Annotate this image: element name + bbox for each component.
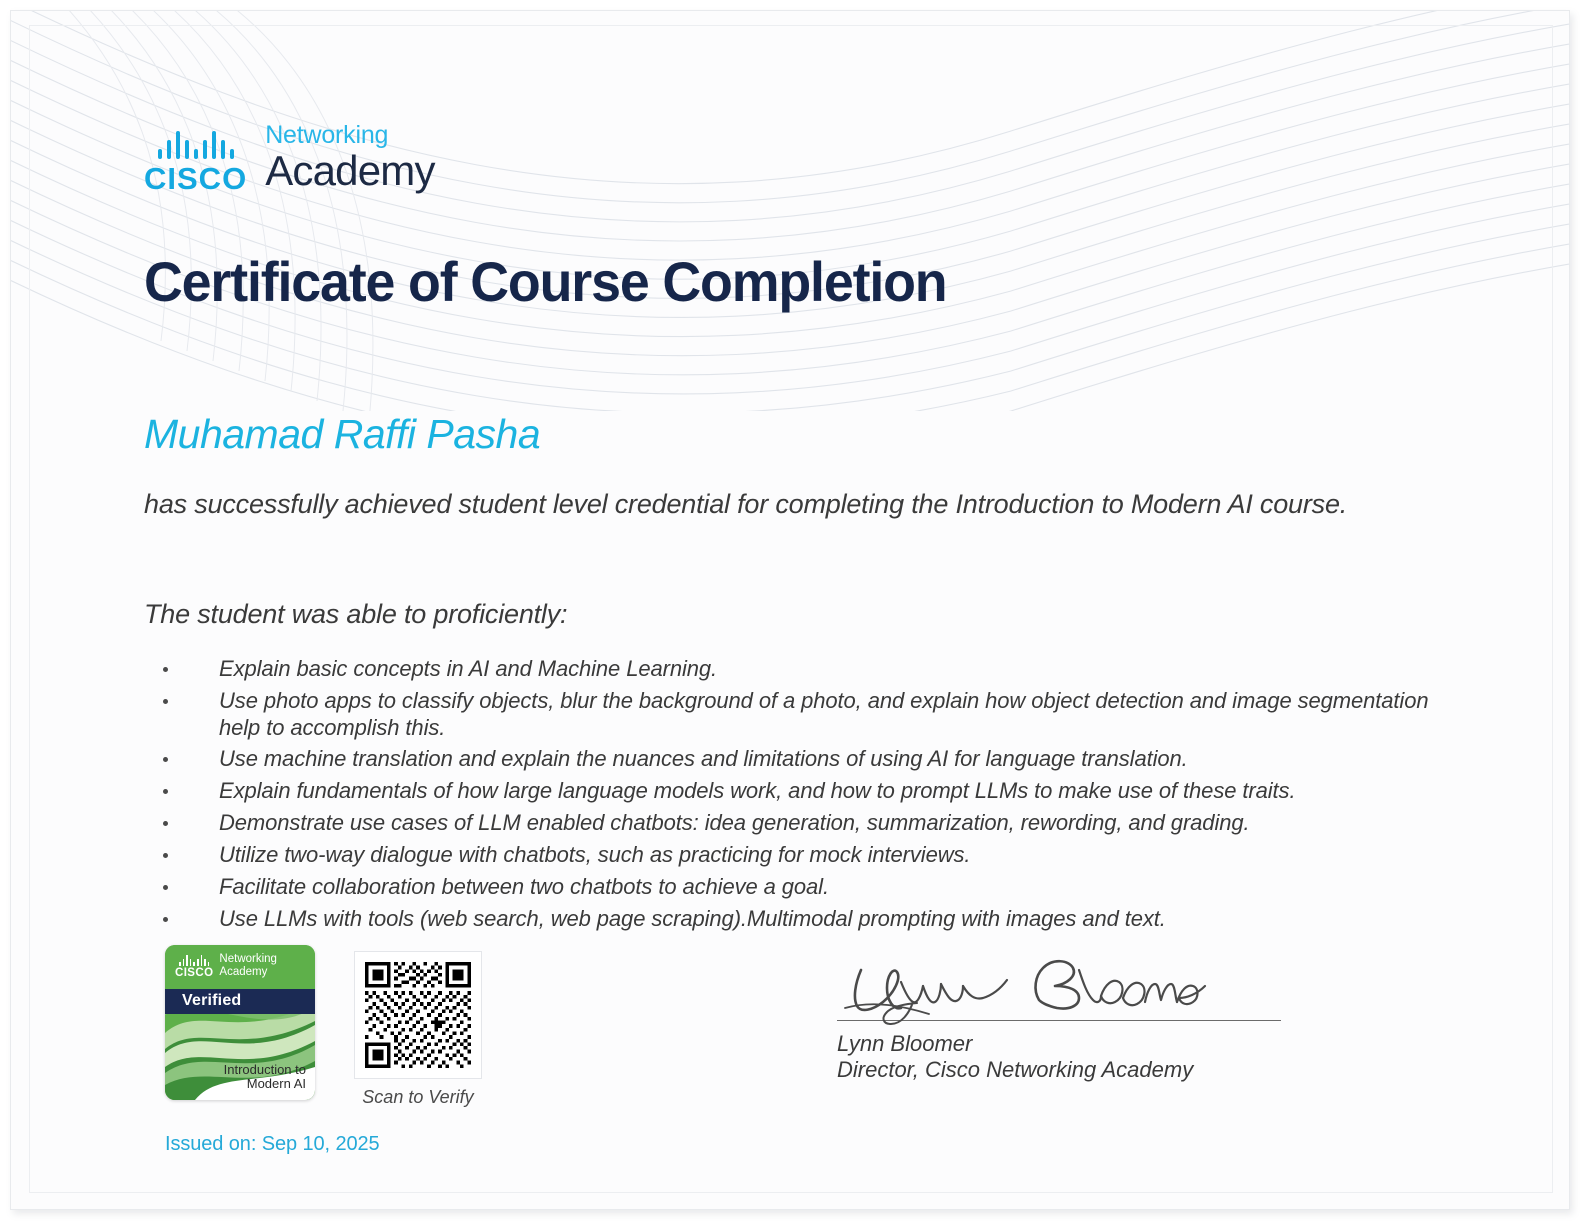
- bullet-icon: [163, 699, 168, 704]
- verified-label: Verified: [182, 992, 241, 1009]
- skills-intro: The student was able to proficiently:: [144, 599, 567, 630]
- recipient-name: Muhamad Raffi Pasha: [144, 411, 540, 458]
- badge-course-name: Introduction to Modern AI: [224, 1063, 306, 1092]
- skill-text: Use LLMs with tools (web search, web pag…: [219, 906, 1166, 931]
- badge-academy-wordmark: Networking Academy: [219, 953, 277, 980]
- cisco-wordmark: CISCO: [144, 163, 247, 194]
- skill-text: Use machine translation and explain the …: [219, 746, 1188, 771]
- bullet-icon: [163, 667, 168, 672]
- certificate-page: CISCO Networking Academy Certificate of …: [0, 0, 1584, 1224]
- skill-text: Explain basic concepts in AI and Machine…: [219, 656, 717, 681]
- academy-wordmark: Networking Academy: [265, 123, 434, 194]
- certificate-sheet: CISCO Networking Academy Certificate of …: [10, 10, 1570, 1210]
- list-item: Use photo apps to classify objects, blur…: [157, 688, 1457, 742]
- bullet-icon: [163, 917, 168, 922]
- bullet-icon: [163, 821, 168, 826]
- skill-text: Demonstrate use cases of LLM enabled cha…: [219, 810, 1250, 835]
- skill-text: Use photo apps to classify objects, blur…: [219, 688, 1429, 740]
- list-item: Facilitate collaboration between two cha…: [157, 874, 1457, 901]
- bullet-icon: [163, 885, 168, 890]
- decorative-wave-background: [11, 11, 1570, 411]
- verification-qr-code[interactable]: [354, 951, 482, 1079]
- handwritten-signature-icon: [843, 956, 1233, 1026]
- badge-networking-text: Networking: [219, 953, 277, 966]
- course-badge: CISCO Networking Academy Verified Introd…: [165, 945, 315, 1100]
- bullet-icon: [163, 789, 168, 794]
- badge-cisco-logo: CISCO Networking Academy: [175, 953, 277, 980]
- skill-text: Facilitate collaboration between two cha…: [219, 874, 829, 899]
- cisco-bars-icon: [158, 129, 234, 159]
- skills-list: Explain basic concepts in AI and Machine…: [157, 656, 1457, 937]
- badge-cisco-bars-icon: [179, 955, 209, 966]
- skill-text: Explain fundamentals of how large langua…: [219, 778, 1295, 803]
- badge-cisco-wordmark: CISCO: [175, 968, 213, 980]
- verified-banner: Verified: [165, 989, 315, 1014]
- signature-rule: [837, 1020, 1281, 1021]
- signatory-role: Director, Cisco Networking Academy: [837, 1057, 1287, 1083]
- cisco-logo-mark: CISCO: [144, 129, 247, 194]
- qr-code-image: [365, 962, 471, 1068]
- list-item: Explain fundamentals of how large langua…: [157, 778, 1457, 805]
- cisco-networking-academy-logo: CISCO Networking Academy: [144, 123, 435, 194]
- bullet-icon: [163, 853, 168, 858]
- badge-course-line2: Modern AI: [224, 1077, 306, 1092]
- badge-academy-text: Academy: [219, 966, 277, 979]
- qr-caption: Scan to Verify: [354, 1087, 482, 1108]
- academy-networking-text: Networking: [265, 123, 434, 148]
- badge-course-line1: Introduction to: [224, 1063, 306, 1078]
- signature-block: Lynn Bloomer Director, Cisco Networking …: [837, 956, 1287, 1084]
- academy-academy-text: Academy: [265, 150, 434, 192]
- list-item: Explain basic concepts in AI and Machine…: [157, 656, 1457, 683]
- certificate-title: Certificate of Course Completion: [144, 249, 946, 314]
- skill-text: Utilize two-way dialogue with chatbots, …: [219, 842, 970, 867]
- list-item: Use LLMs with tools (web search, web pag…: [157, 906, 1457, 933]
- list-item: Utilize two-way dialogue with chatbots, …: [157, 842, 1457, 869]
- list-item: Demonstrate use cases of LLM enabled cha…: [157, 810, 1457, 837]
- issued-date: Issued on: Sep 10, 2025: [165, 1133, 380, 1156]
- list-item: Use machine translation and explain the …: [157, 746, 1457, 773]
- signatory-name: Lynn Bloomer: [837, 1031, 1287, 1057]
- bullet-icon: [163, 757, 168, 762]
- achievement-statement: has successfully achieved student level …: [144, 485, 1394, 523]
